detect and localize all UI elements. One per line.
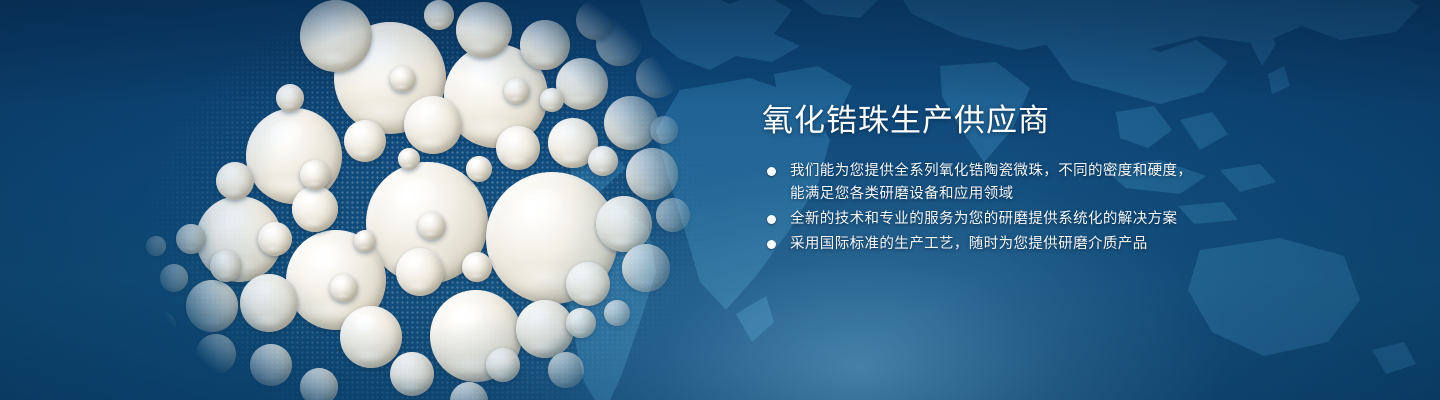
bullet-text-line1: 全新的技术和专业的服务为您的研磨提供系统化的解决方案 (790, 211, 1177, 227)
banner-bullet-list: 我们能为您提供全系列氧化锆陶瓷微珠，不同的密度和硬度， 能满足您各类研磨设备和应… (762, 160, 1322, 256)
bullet-text-line2: 能满足您各类研磨设备和应用领域 (790, 183, 1322, 206)
bullet-dot-icon (767, 167, 776, 176)
bullet-item-3: 采用国际标准的生产工艺，随时为您提供研磨介质产品 (762, 233, 1322, 256)
bullet-text-line1: 我们能为您提供全系列氧化锆陶瓷微珠，不同的密度和硬度， (790, 163, 1192, 179)
banner-headline: 氧化锆珠生产供应商 (762, 104, 1322, 138)
banner-copy: 氧化锆珠生产供应商 我们能为您提供全系列氧化锆陶瓷微珠，不同的密度和硬度， 能满… (762, 104, 1322, 258)
bullet-dot-icon (767, 240, 776, 249)
bullet-item-1: 我们能为您提供全系列氧化锆陶瓷微珠，不同的密度和硬度， 能满足您各类研磨设备和应… (762, 160, 1322, 206)
bullet-dot-icon (767, 215, 776, 224)
bullet-item-2: 全新的技术和专业的服务为您的研磨提供系统化的解决方案 (762, 208, 1322, 231)
hero-banner: 氧化锆珠生产供应商 我们能为您提供全系列氧化锆陶瓷微珠，不同的密度和硬度， 能满… (0, 0, 1440, 400)
bullet-text-line1: 采用国际标准的生产工艺，随时为您提供研磨介质产品 (790, 236, 1148, 252)
